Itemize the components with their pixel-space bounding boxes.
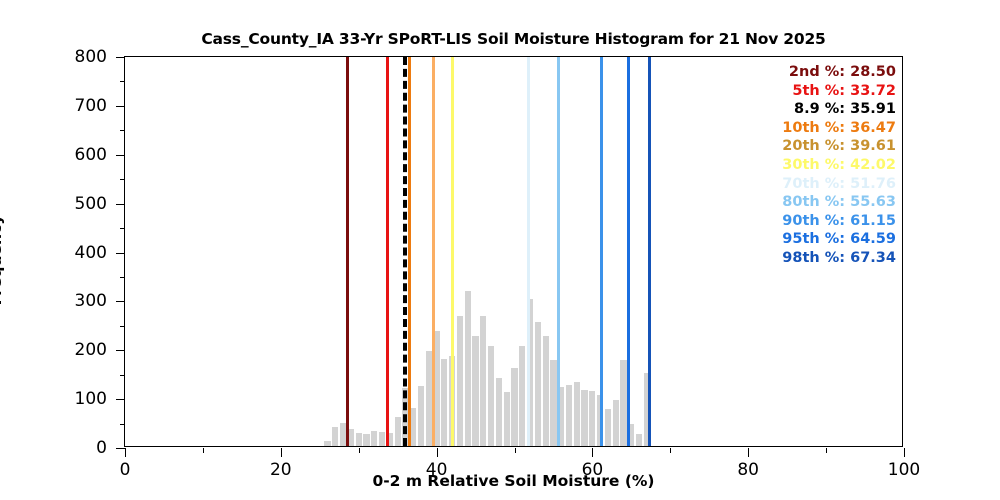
legend-entry: 90th %: 61.15: [782, 212, 896, 231]
histogram-bar: [332, 427, 338, 446]
histogram-bar: [496, 378, 502, 446]
legend-entry: 20th %: 39.61: [782, 137, 896, 156]
percentile-line: [627, 57, 630, 446]
histogram-bar: [535, 322, 541, 446]
histogram-bar: [457, 316, 463, 446]
legend-entry: 80th %: 55.63: [782, 193, 896, 212]
y-axis-tick-label: 600: [43, 145, 107, 165]
legend-entry: 70th %: 51.76: [782, 175, 896, 194]
legend-entry: 30th %: 42.02: [782, 156, 896, 175]
x-axis-tick-label: 20: [270, 460, 292, 480]
percentile-line: [648, 57, 651, 446]
histogram-bar: [574, 382, 580, 446]
x-axis-minor-tick: [515, 448, 516, 453]
chart-title: Cass_County_IA 33-Yr SPoRT-LIS Soil Mois…: [124, 30, 903, 48]
y-axis-tick-label: 700: [43, 96, 107, 116]
percentile-line: [600, 57, 603, 446]
y-axis-minor-tick: [120, 228, 125, 229]
y-axis-tick: [116, 350, 125, 351]
histogram-bar: [348, 429, 354, 446]
percentile-legend: 2nd %: 28.505th %: 33.728.9 %: 35.9110th…: [782, 63, 896, 268]
histogram-bar: [488, 346, 494, 446]
histogram-bar: [379, 432, 385, 446]
histogram-bar: [519, 346, 525, 446]
percentile-line: [346, 57, 349, 446]
histogram-bar: [324, 441, 330, 446]
percentile-line: [432, 57, 435, 446]
x-axis-tick-label: 80: [737, 460, 759, 480]
x-axis-tick: [904, 448, 905, 457]
x-axis-minor-tick: [826, 448, 827, 453]
histogram-bar: [472, 336, 478, 446]
legend-entry: 95th %: 64.59: [782, 230, 896, 249]
x-axis-tick: [125, 448, 126, 457]
y-axis-tick-label: 800: [43, 47, 107, 67]
x-axis-minor-tick: [203, 448, 204, 453]
legend-entry: 2nd %: 28.50: [782, 63, 896, 82]
y-axis-minor-tick: [120, 179, 125, 180]
y-axis-minor-tick: [120, 326, 125, 327]
histogram-bar: [589, 391, 595, 446]
percentile-line: [527, 57, 530, 446]
y-axis-tick: [116, 448, 125, 449]
y-axis-tick: [116, 57, 125, 58]
histogram-bar: [613, 400, 619, 446]
x-axis-title: 0-2 m Relative Soil Moisture (%): [124, 472, 903, 490]
y-axis-tick-label: 100: [43, 389, 107, 409]
percentile-line: [386, 57, 389, 446]
y-axis-tick-label: 200: [43, 340, 107, 360]
histogram-bar: [480, 316, 486, 446]
legend-entry: 5th %: 33.72: [782, 82, 896, 101]
histogram-bar: [356, 433, 362, 446]
histogram-bar: [511, 368, 517, 446]
histogram-bar: [636, 434, 642, 446]
x-axis-minor-tick: [359, 448, 360, 453]
x-axis-tick: [281, 448, 282, 457]
histogram-bar: [543, 336, 549, 446]
y-axis-minor-tick: [120, 424, 125, 425]
y-axis-tick: [116, 155, 125, 156]
legend-entry: 98th %: 67.34: [782, 249, 896, 268]
y-axis-minor-tick: [120, 375, 125, 376]
y-axis-tick-label: 500: [43, 194, 107, 214]
legend-entry: 8.9 %: 35.91: [782, 100, 896, 119]
x-axis-tick-label: 40: [426, 460, 448, 480]
y-axis-tick: [116, 301, 125, 302]
legend-entry: 10th %: 36.47: [782, 119, 896, 138]
x-axis-minor-tick: [670, 448, 671, 453]
x-axis-tick: [748, 448, 749, 457]
y-axis-title: Frequency: [0, 215, 5, 306]
histogram-bar: [566, 385, 572, 446]
percentile-line: [408, 57, 411, 446]
histogram-bar: [581, 390, 587, 446]
x-axis-tick: [437, 448, 438, 457]
percentile-line: [451, 57, 454, 446]
y-axis-tick: [116, 204, 125, 205]
x-axis-tick-label: 100: [888, 460, 920, 480]
histogram-bar: [363, 434, 369, 446]
histogram-bar: [418, 386, 424, 446]
percentile-line: [403, 57, 407, 446]
y-axis-minor-tick: [120, 130, 125, 131]
y-axis-minor-tick: [120, 277, 125, 278]
y-axis-tick: [116, 253, 125, 254]
histogram-bar: [441, 359, 447, 446]
histogram-bar: [504, 392, 510, 446]
y-axis-tick-label: 0: [43, 438, 107, 458]
soil-moisture-histogram-figure: Cass_County_IA 33-Yr SPoRT-LIS Soil Mois…: [0, 0, 1000, 500]
y-axis-tick-label: 300: [43, 291, 107, 311]
histogram-bar: [395, 417, 401, 446]
histogram-bar: [410, 408, 416, 446]
percentile-line: [557, 57, 560, 446]
x-axis-tick-label: 0: [120, 460, 131, 480]
y-axis-tick: [116, 106, 125, 107]
histogram-bar: [465, 291, 471, 446]
histogram-bar: [605, 409, 611, 446]
plot-area: 0100200300400500600700800 020406080100 2…: [124, 56, 903, 447]
histogram-bar: [550, 360, 556, 446]
histogram-bar: [426, 351, 432, 446]
y-axis-tick: [116, 399, 125, 400]
y-axis-minor-tick: [120, 81, 125, 82]
y-axis-tick-label: 400: [43, 243, 107, 263]
x-axis-tick: [592, 448, 593, 457]
histogram-bar: [371, 431, 377, 446]
x-axis-tick-label: 60: [582, 460, 604, 480]
